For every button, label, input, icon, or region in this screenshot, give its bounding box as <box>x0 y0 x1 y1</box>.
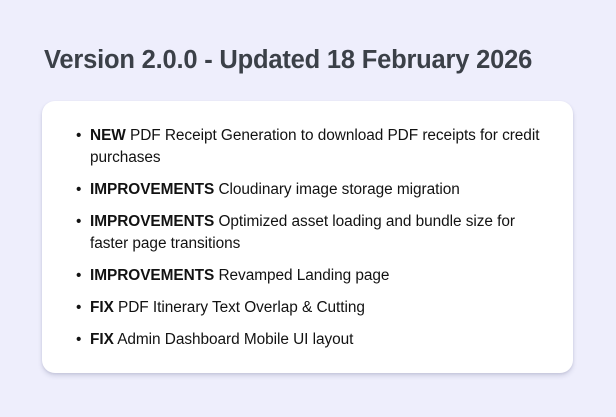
bullet-icon: • <box>76 125 81 147</box>
item-tag: IMPROVEMENTS <box>90 267 214 284</box>
item-text-value: Cloudinary image storage migration <box>218 181 459 198</box>
item-text: PDF Itinerary Text Overlap & Cutting <box>114 299 365 316</box>
item-text-value: Revamped Landing page <box>218 267 389 284</box>
bullet-icon: • <box>76 211 81 233</box>
item-text-value: PDF Itinerary Text Overlap & Cutting <box>118 299 365 316</box>
item-tag: IMPROVEMENTS <box>90 181 214 198</box>
item-tag: IMPROVEMENTS <box>90 213 214 230</box>
bullet-icon: • <box>76 179 81 201</box>
changelog-page: Version 2.0.0 - Updated 18 February 2026… <box>0 0 616 417</box>
list-item: •NEW PDF Receipt Generation to download … <box>76 125 543 169</box>
item-tag: FIX <box>90 299 114 316</box>
bullet-icon: • <box>76 265 81 287</box>
bullet-icon: • <box>76 297 81 319</box>
item-text: Revamped Landing page <box>214 267 389 284</box>
item-text-value: Admin Dashboard Mobile UI layout <box>117 331 353 348</box>
list-item: •FIX Admin Dashboard Mobile UI layout <box>76 329 543 351</box>
list-item: •IMPROVEMENTS Revamped Landing page <box>76 265 543 287</box>
item-text-value: PDF Receipt Generation to download PDF r… <box>90 127 539 166</box>
item-text: PDF Receipt Generation to download PDF r… <box>90 127 539 166</box>
bullet-icon: • <box>76 329 81 351</box>
item-text: Cloudinary image storage migration <box>214 181 460 198</box>
list-item: •FIX PDF Itinerary Text Overlap & Cuttin… <box>76 297 543 319</box>
changelog-card: •NEW PDF Receipt Generation to download … <box>42 101 573 373</box>
page-title: Version 2.0.0 - Updated 18 February 2026 <box>44 44 532 76</box>
item-text: Admin Dashboard Mobile UI layout <box>114 331 354 348</box>
changelog-list: •NEW PDF Receipt Generation to download … <box>76 125 543 351</box>
item-tag: NEW <box>90 127 126 144</box>
list-item: •IMPROVEMENTS Cloudinary image storage m… <box>76 179 543 201</box>
list-item: •IMPROVEMENTS Optimized asset loading an… <box>76 211 543 255</box>
item-tag: FIX <box>90 331 114 348</box>
